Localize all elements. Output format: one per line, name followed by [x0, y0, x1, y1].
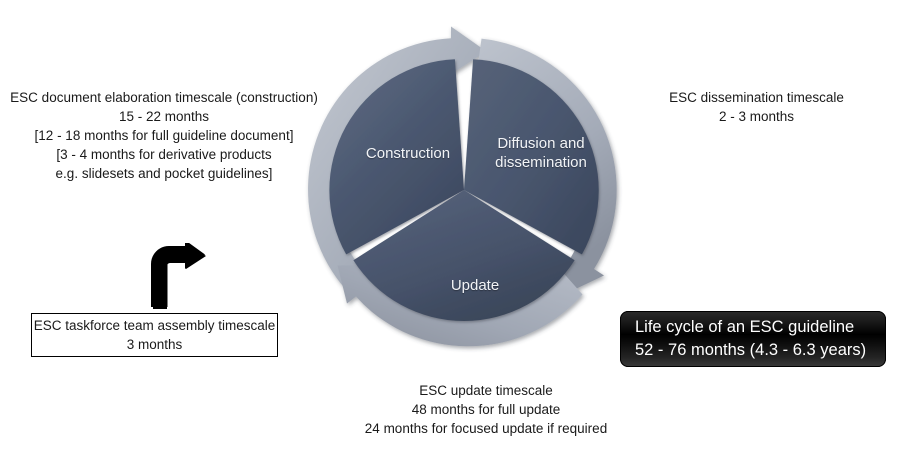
segment-label-update: Update [420, 276, 530, 295]
caption-update-timescale: ESC update timescale 48 months for full … [336, 381, 636, 438]
elbow-arrow-icon [148, 243, 206, 309]
segment-diffusion-text-line1: Diffusion and [476, 134, 606, 153]
segment-label-construction: Construction [338, 144, 478, 163]
cycle-diagram-graphic: Construction Diffusion and dissemination… [300, 26, 630, 356]
caption-construction-line1: ESC document elaboration timescale (cons… [4, 88, 324, 107]
caption-dissemination-line1: ESC dissemination timescale [614, 88, 899, 107]
taskforce-line2: 3 months [127, 335, 183, 354]
diagram-canvas: ESC document elaboration timescale (cons… [0, 0, 901, 470]
caption-update-line3: 24 months for focused update if required [336, 419, 636, 438]
caption-construction-line4: [3 - 4 months for derivative products [4, 145, 324, 164]
taskforce-timescale-box: ESC taskforce team assembly timescale 3 … [31, 313, 278, 357]
caption-construction-line2: 15 - 22 months [4, 107, 324, 126]
caption-construction-line3: [12 - 18 months for full guideline docum… [4, 126, 324, 145]
lifecycle-summary-banner: Life cycle of an ESC guideline 52 - 76 m… [620, 311, 886, 367]
caption-dissemination-line2: 2 - 3 months [614, 107, 899, 126]
caption-construction-line5: e.g. slidesets and pocket guidelines] [4, 164, 324, 183]
lifecycle-line1: Life cycle of an ESC guideline [635, 316, 854, 339]
segment-update-text: Update [451, 277, 499, 294]
segment-diffusion-text-line2: dissemination [476, 153, 606, 172]
caption-construction-timescale: ESC document elaboration timescale (cons… [4, 88, 324, 183]
caption-update-line2: 48 months for full update [336, 400, 636, 419]
lifecycle-line2: 52 - 76 months (4.3 - 6.3 years) [635, 339, 866, 362]
segment-construction-text: Construction [366, 145, 450, 162]
taskforce-line1: ESC taskforce team assembly timescale [34, 316, 276, 335]
caption-dissemination-timescale: ESC dissemination timescale 2 - 3 months [614, 88, 899, 126]
segment-label-diffusion: Diffusion and dissemination [476, 134, 606, 172]
caption-update-line1: ESC update timescale [336, 381, 636, 400]
